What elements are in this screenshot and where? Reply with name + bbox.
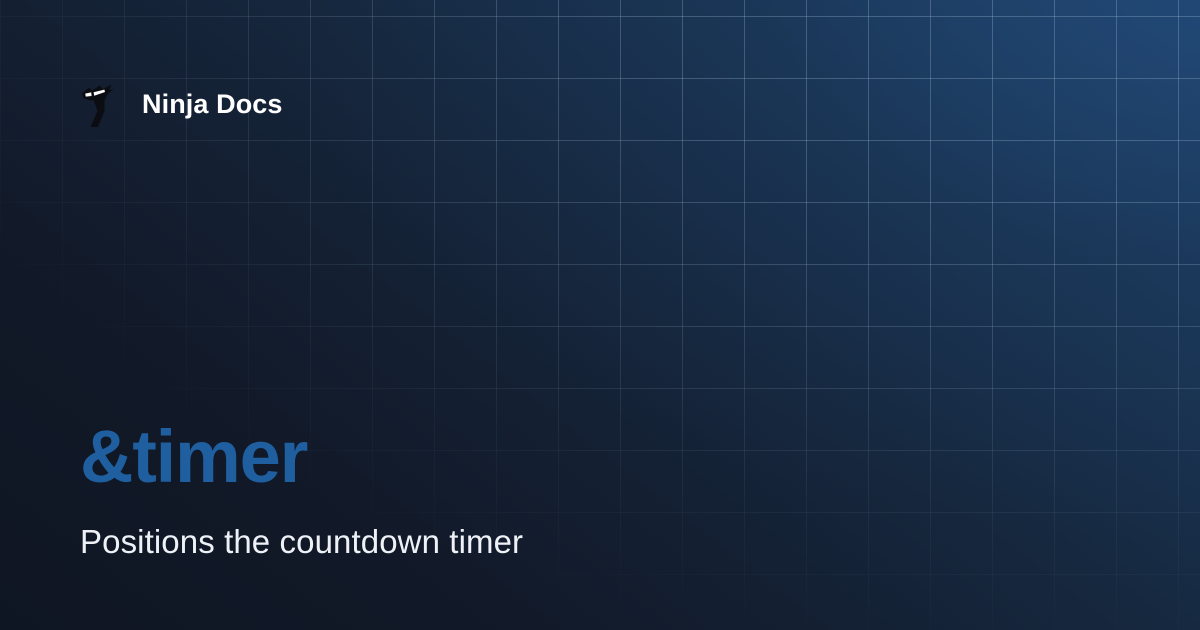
- hero-section: &timer Positions the countdown timer: [80, 420, 1120, 562]
- page-subtitle: Positions the countdown timer: [80, 522, 1120, 562]
- brand-name: Ninja Docs: [142, 91, 283, 118]
- ninja-cat-logo-icon: [80, 81, 120, 127]
- brand: Ninja Docs: [80, 78, 283, 130]
- page-title: &timer: [80, 420, 1120, 494]
- og-card: Ninja Docs &timer Positions the countdow…: [0, 0, 1200, 630]
